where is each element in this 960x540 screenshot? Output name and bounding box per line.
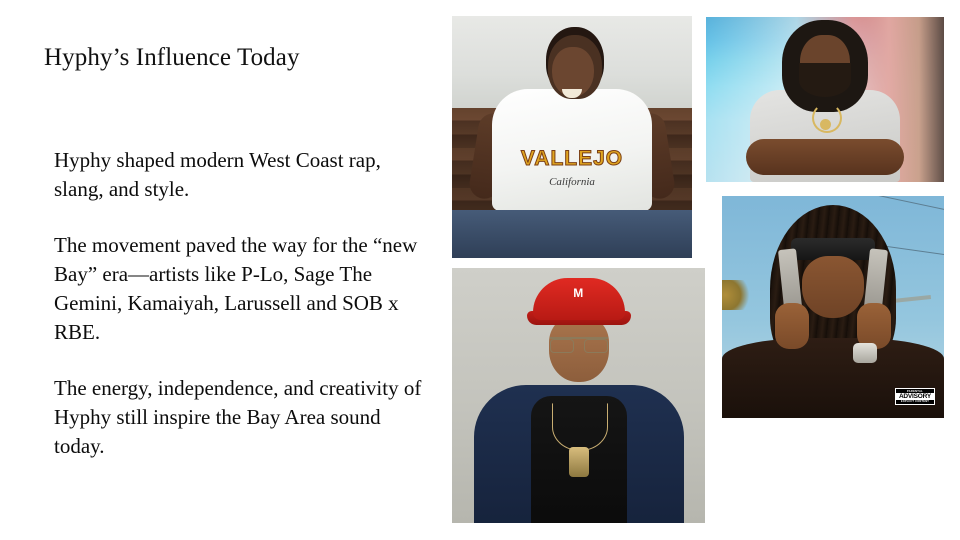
palm-foliage xyxy=(722,280,756,310)
pendant xyxy=(569,447,589,477)
paragraph-3: The energy, independence, and creativity… xyxy=(54,374,429,461)
eyeglasses xyxy=(550,337,608,351)
photo-man-red-cap: M xyxy=(452,268,705,523)
wristwatch xyxy=(853,343,877,363)
shirt-subtext: California xyxy=(549,176,595,188)
hand-right xyxy=(857,303,891,349)
shirt-text: VALLEJO xyxy=(521,147,623,171)
hand-left xyxy=(775,303,809,349)
face xyxy=(802,256,864,318)
paragraph-1: Hyphy shaped modern West Coast rap, slan… xyxy=(54,146,429,204)
crossed-arms xyxy=(746,139,904,175)
page-title: Hyphy’s Influence Today xyxy=(44,42,424,74)
dark-jacket xyxy=(722,338,944,418)
beard xyxy=(799,63,851,97)
photo-album-cover: PARENTAL ADVISORY EXPLICIT CONTENT xyxy=(722,196,944,418)
chain-necklace xyxy=(552,403,608,451)
slide-canvas: Hyphy’s Influence Today Hyphy shaped mod… xyxy=(0,0,960,540)
parental-advisory-label: PARENTAL ADVISORY EXPLICIT CONTENT xyxy=(895,388,935,405)
photo-man-vallejo-shirt: VALLEJO California xyxy=(452,16,692,258)
advisory-main-text: ADVISORY xyxy=(896,393,934,400)
paragraph-2: The movement paved the way for the “new … xyxy=(54,231,429,347)
jeans xyxy=(452,210,692,258)
cap-logo-text: M xyxy=(573,286,584,300)
body-text-block: Hyphy shaped modern West Coast rap, slan… xyxy=(54,146,434,461)
advisory-bottom-text: EXPLICIT CONTENT xyxy=(901,400,929,403)
photo-man-arms-crossed xyxy=(706,17,944,182)
